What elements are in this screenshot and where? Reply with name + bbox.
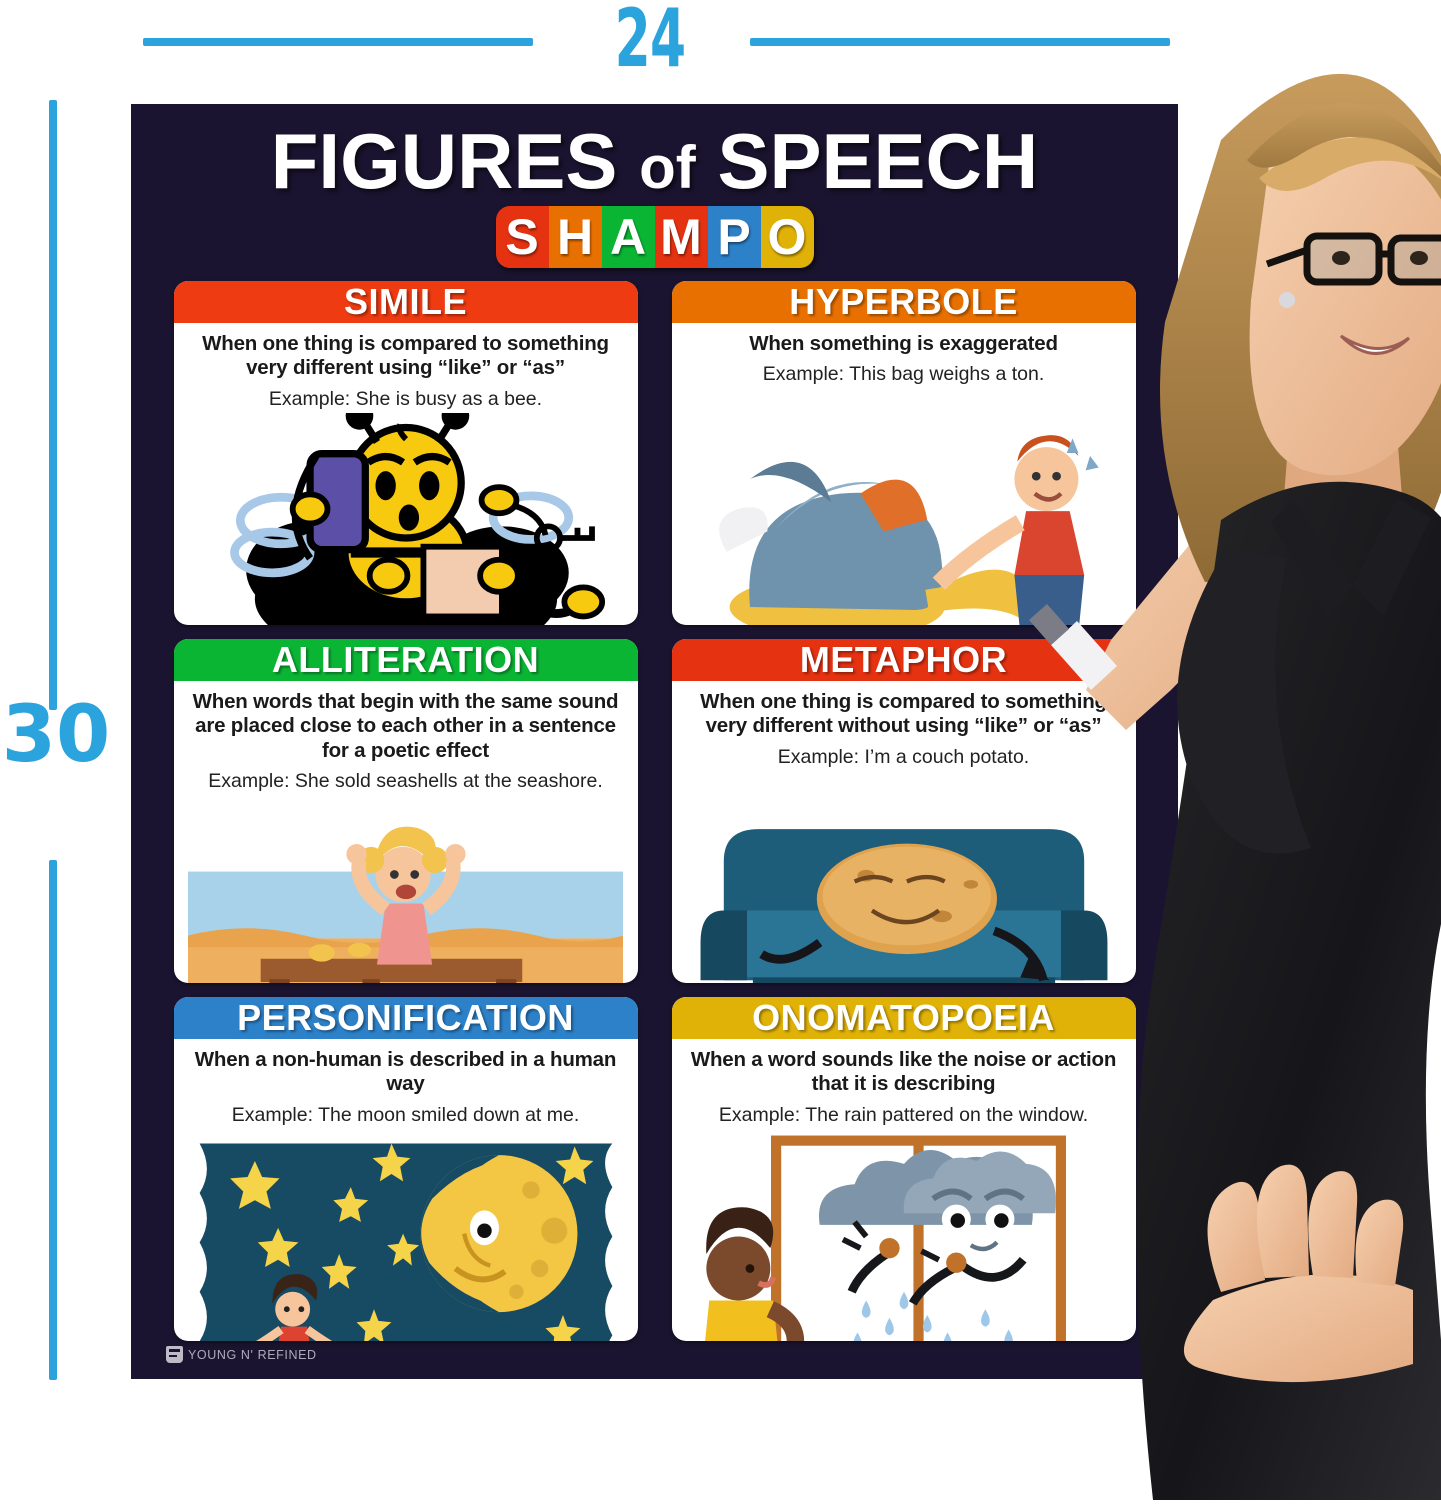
card-definition: When a non-human is described in a human…: [188, 1048, 624, 1097]
brand-logo: YOUNG N' REFINED: [166, 1346, 317, 1363]
acronym-letter-a-2: A: [602, 206, 655, 268]
width-dimension-label: 24: [607, 0, 693, 85]
height-dimension-label: 30: [0, 690, 112, 780]
dimension-line-left: [143, 38, 533, 46]
card-body: When words that begin with the same soun…: [174, 681, 638, 983]
card-body: When a non-human is described in a human…: [174, 1039, 638, 1341]
figure-card-alliteration: ALLITERATIONWhen words that begin with t…: [174, 639, 638, 983]
acronym-letter-s-0: S: [496, 206, 549, 268]
brand-logo-text: YOUNG N' REFINED: [188, 1348, 317, 1362]
smiling-moon-illustration: [188, 1129, 624, 1340]
book-icon: [166, 1346, 183, 1363]
acronym-shampo: SHAMPO: [496, 206, 814, 268]
dimension-line-bottom: [49, 860, 57, 1380]
card-title-simile: SIMILE: [174, 281, 638, 323]
card-example: Example: She is busy as a bee.: [269, 388, 542, 411]
card-definition: When one thing is compared to something …: [188, 332, 624, 381]
presenter-photo: [921, 0, 1441, 1500]
card-example: Example: She sold seashells at the seash…: [208, 770, 603, 793]
acronym-letter-p-4: P: [708, 206, 761, 268]
girl-selling-seashells-illustration: [188, 796, 624, 983]
busy-bee-illustration: [188, 413, 624, 624]
card-definition: When words that begin with the same soun…: [188, 690, 624, 764]
dimension-line-top: [49, 100, 57, 710]
figure-card-personification: PERSONIFICATIONWhen a non-human is descr…: [174, 997, 638, 1341]
title-word-figures: FIGURES: [271, 117, 618, 205]
acronym-letter-m-3: M: [655, 206, 708, 268]
acronym-letter-o-5: O: [761, 206, 814, 268]
card-title-personification: PERSONIFICATION: [174, 997, 638, 1039]
figure-card-simile: SIMILEWhen one thing is compared to some…: [174, 281, 638, 625]
card-example: Example: The moon smiled down at me.: [232, 1104, 580, 1127]
card-body: When one thing is compared to something …: [174, 323, 638, 625]
card-title-alliteration: ALLITERATION: [174, 639, 638, 681]
title-word-of: of: [639, 134, 696, 201]
acronym-letter-h-1: H: [549, 206, 602, 268]
